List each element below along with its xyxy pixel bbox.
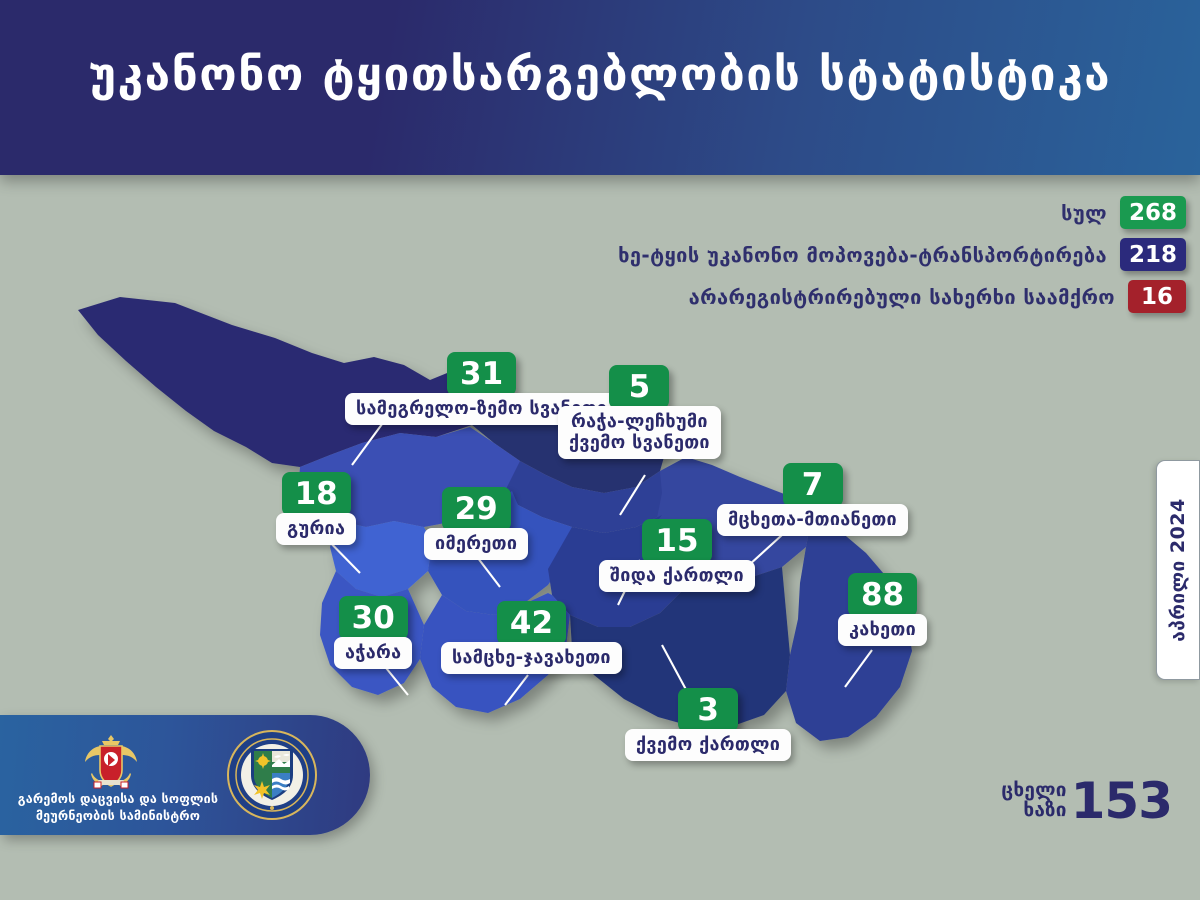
marker-samtskhe-javakheti[interactable]: 42 სამცხე-ჯავახეთი — [441, 601, 622, 674]
ministry-seal-icon — [226, 729, 318, 821]
legend-badge-sawmill: 16 — [1128, 280, 1186, 313]
marker-label: შიდა ქართლი — [599, 560, 755, 592]
marker-value: 7 — [783, 463, 843, 507]
marker-label: სამცხე-ჯავახეთი — [441, 642, 622, 674]
hotline-number: 153 — [1071, 778, 1172, 824]
marker-label: აჭარა — [334, 637, 412, 669]
marker-value: 29 — [442, 487, 511, 531]
hotline-words: ცხელი ხაზი — [1001, 781, 1066, 821]
marker-mtskheta-mtianeti[interactable]: 7 მცხეთა-მთიანეთი — [717, 463, 908, 536]
marker-imereti[interactable]: 29 იმერეთი — [424, 487, 528, 560]
marker-guria[interactable]: 18 გურია — [276, 472, 356, 545]
ministry-line2: მეურნეობის სამინისტრო — [36, 808, 200, 823]
marker-value: 88 — [848, 573, 917, 617]
marker-value: 18 — [282, 472, 351, 516]
hotline-word1: ცხელი — [1001, 779, 1066, 801]
marker-label: ქვემო ქართლი — [625, 729, 791, 761]
hotline-word2: ხაზი — [1023, 799, 1066, 821]
marker-racha-lechkhumi[interactable]: 5 რაჭა-ლეჩხუმიქვემო სვანეთი — [558, 365, 721, 459]
marker-value: 42 — [497, 601, 566, 645]
legend-label: სულ — [1061, 201, 1107, 225]
page-title: უკანონო ტყითსარგებლობის სტატისტიკა — [0, 47, 1200, 101]
header-banner: უკანონო ტყითსარგებლობის სტატისტიკა — [0, 0, 1200, 175]
legend-label: არარეგისტრირებული სახერხი საამქრო — [689, 285, 1115, 309]
legend-row-total: სულ 268 — [618, 196, 1186, 229]
legend-badge-total: 268 — [1120, 196, 1186, 229]
ministry-name: გარემოს დაცვისა და სოფლის მეურნეობის სამ… — [12, 791, 224, 824]
ministry-line1: გარემოს დაცვისა და სოფლის — [18, 791, 218, 806]
marker-label: რაჭა-ლეჩხუმიქვემო სვანეთი — [558, 406, 721, 459]
marker-value: 30 — [339, 596, 408, 640]
legend: სულ 268 ხე-ტყის უკანონო მოპოვება-ტრანსპო… — [618, 196, 1186, 322]
marker-adjara[interactable]: 30 აჭარა — [334, 596, 412, 669]
ministry-bar: გარემოს დაცვისა და სოფლის მეურნეობის სამ… — [0, 715, 370, 835]
marker-label: მცხეთა-მთიანეთი — [717, 504, 908, 536]
hotline: ცხელი ხაზი 153 — [1001, 778, 1172, 824]
marker-value: 5 — [609, 365, 669, 409]
marker-label: იმერეთი — [424, 528, 528, 560]
date-tab: აპრილი 2024 — [1156, 460, 1200, 680]
georgia-coat-of-arms-icon — [78, 733, 144, 791]
marker-label: კახეთი — [838, 614, 927, 646]
marker-value: 31 — [447, 352, 516, 396]
marker-kakheti[interactable]: 88 კახეთი — [838, 573, 927, 646]
marker-kvemo-kartli[interactable]: 3 ქვემო ქართლი — [625, 688, 791, 761]
marker-label-line1: რაჭა-ლეჩხუმი — [571, 411, 708, 432]
date-tab-label: აპრილი 2024 — [1167, 498, 1189, 642]
infographic-root: უკანონო ტყითსარგებლობის სტატისტიკა — [0, 0, 1200, 900]
marker-value: 15 — [642, 519, 711, 563]
legend-label: ხე-ტყის უკანონო მოპოვება-ტრანსპორტირება — [618, 243, 1107, 267]
legend-badge-logging: 218 — [1120, 238, 1186, 271]
legend-row-logging: ხე-ტყის უკანონო მოპოვება-ტრანსპორტირება … — [618, 238, 1186, 271]
marker-label: გურია — [276, 513, 356, 545]
marker-value: 3 — [678, 688, 738, 732]
legend-row-sawmill: არარეგისტრირებული სახერხი საამქრო 16 — [618, 280, 1186, 313]
marker-label-line2: ქვემო სვანეთი — [569, 432, 710, 453]
